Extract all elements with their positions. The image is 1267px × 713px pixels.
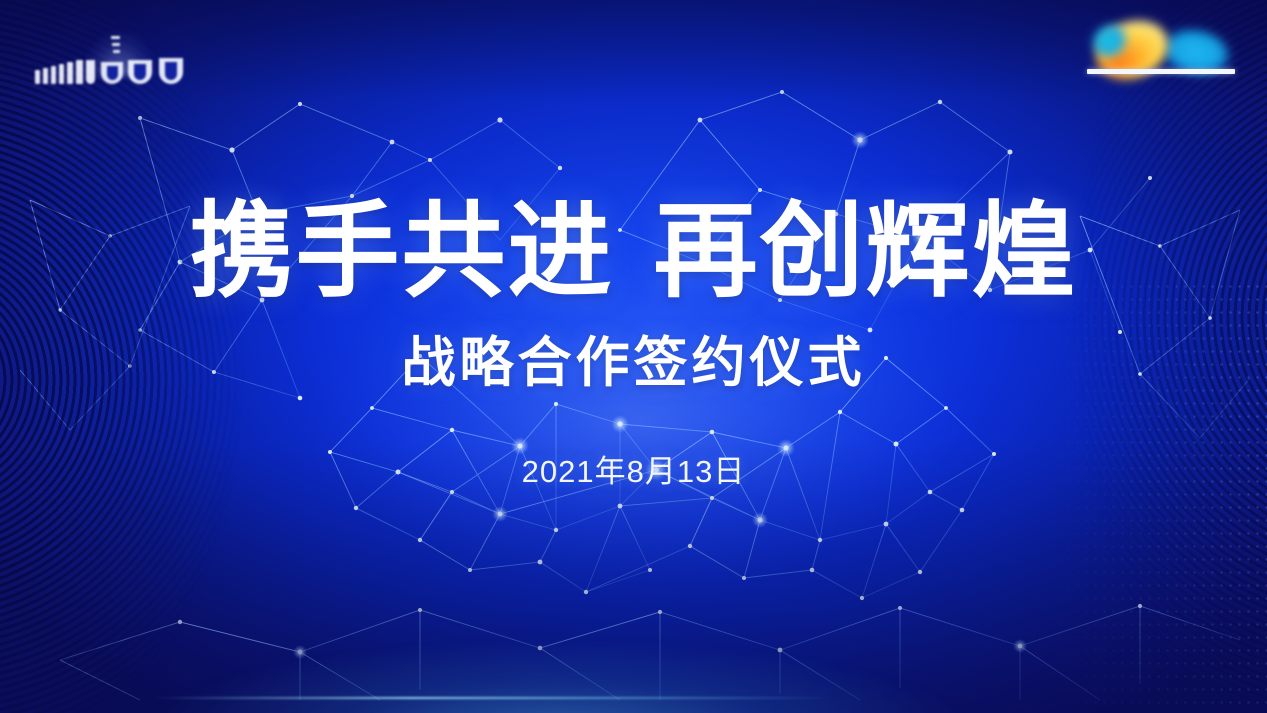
logo-left-glyphs <box>33 32 185 92</box>
subtitle: 战略合作签约仪式 <box>0 334 1267 393</box>
logo-right-underline-bar <box>1087 69 1235 74</box>
main-title-part-2: 再创辉煌 <box>654 194 1078 310</box>
company-logo-right <box>1079 12 1239 84</box>
bottom-light-streak <box>150 697 837 699</box>
event-date: 2021年8月13日 <box>0 446 1267 491</box>
company-logo-left <box>33 32 185 92</box>
slide-text-block: 携手共进再创辉煌 战略合作签约仪式 2021年8月13日 <box>0 196 1267 491</box>
main-title: 携手共进再创辉煌 <box>0 196 1267 308</box>
main-title-part-1: 携手共进 <box>189 194 613 310</box>
presentation-slide: 携手共进再创辉煌 战略合作签约仪式 2021年8月13日 <box>0 0 1267 713</box>
bottom-light-glow <box>0 603 1267 713</box>
